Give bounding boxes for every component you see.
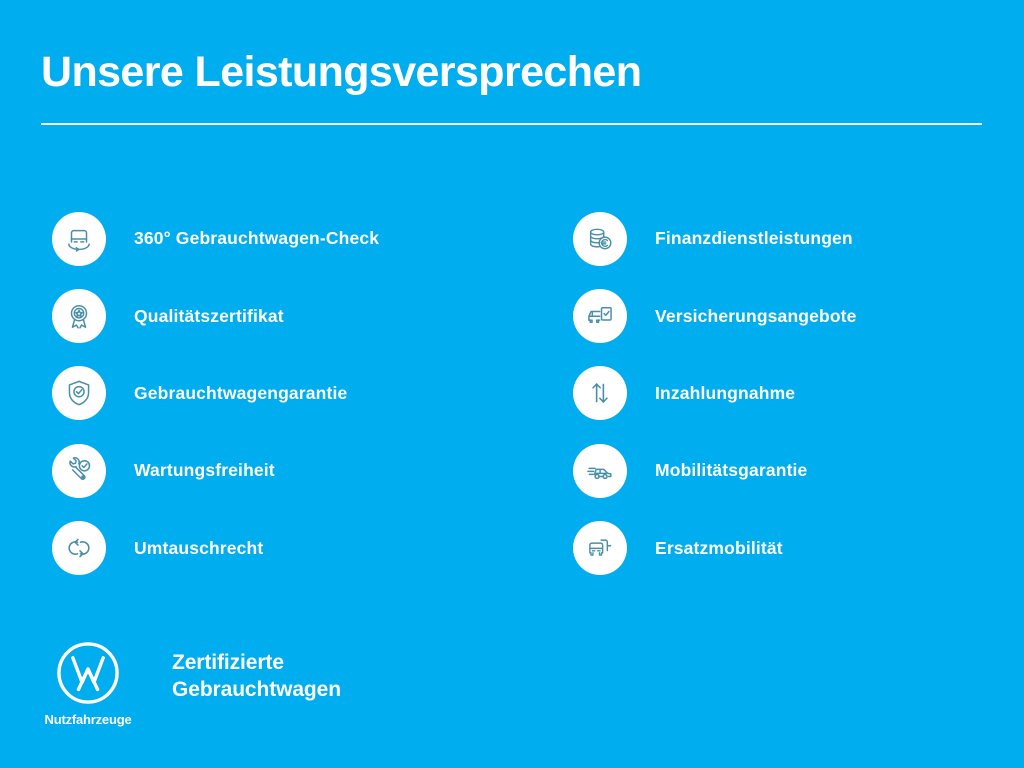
coins-euro-icon [573, 212, 627, 266]
brand-claim: Zertifizierte Gebrauchtwagen [172, 650, 341, 704]
car-motion-icon [573, 444, 627, 498]
brand-claim-line2: Gebrauchtwagen [172, 677, 341, 704]
promise-item-quality-certificate[interactable]: Qualitätszertifikat [52, 277, 522, 354]
promise-item-warranty[interactable]: Gebrauchtwagengarantie [52, 355, 522, 432]
promise-item-insurance-offers[interactable]: Versicherungsangebote [573, 277, 1003, 354]
arrows-up-down-icon [573, 366, 627, 420]
promise-item-financial-services[interactable]: Finanzdienstleistungen [573, 200, 1003, 277]
promise-item-replacement-mobility[interactable]: Ersatzmobilität [573, 510, 1003, 587]
promise-label: Qualitätszertifikat [134, 306, 284, 327]
promise-label: Versicherungsangebote [655, 306, 857, 327]
volkswagen-logo [55, 640, 121, 706]
wrench-check-icon [52, 444, 106, 498]
car-360-check-icon [52, 212, 106, 266]
promise-item-mobility-guarantee[interactable]: Mobilitätsgarantie [573, 432, 1003, 509]
promise-item-360-check[interactable]: 360° Gebrauchtwagen-Check [52, 200, 522, 277]
promise-label: Mobilitätsgarantie [655, 460, 807, 481]
footer-branding: Nutzfahrzeuge Zertifizierte Gebrauchtwag… [38, 640, 341, 727]
brand-claim-line1: Zertifizierte [172, 650, 341, 677]
two-cars-icon [573, 521, 627, 575]
promise-item-trade-in[interactable]: Inzahlungnahme [573, 355, 1003, 432]
promise-label: Umtauschrecht [134, 538, 263, 559]
title-divider [41, 123, 982, 125]
slide-root: Unsere Leistungsversprechen 360° Gebrauc [0, 0, 1024, 768]
promise-item-maintenance-free[interactable]: Wartungsfreiheit [52, 432, 522, 509]
exchange-arrows-icon [52, 521, 106, 575]
promise-label: Ersatzmobilität [655, 538, 783, 559]
promise-label: Inzahlungnahme [655, 383, 795, 404]
brandmark: Nutzfahrzeuge [38, 640, 138, 727]
promise-column-left: 360° Gebrauchtwagen-Check Qualitätszerti… [52, 200, 522, 587]
promise-label: Wartungsfreiheit [134, 460, 275, 481]
car-document-check-icon [573, 289, 627, 343]
brandmark-subtitle: Nutzfahrzeuge [45, 712, 132, 727]
promise-item-exchange-right[interactable]: Umtauschrecht [52, 510, 522, 587]
header: Unsere Leistungsversprechen [41, 50, 983, 125]
page-title: Unsere Leistungsversprechen [41, 50, 983, 95]
promise-label: Gebrauchtwagengarantie [134, 383, 347, 404]
promise-label: Finanzdienstleistungen [655, 228, 853, 249]
promise-column-right: Finanzdienstleistungen Versicheru [573, 200, 1003, 587]
award-rosette-icon [52, 289, 106, 343]
shield-check-icon [52, 366, 106, 420]
promise-label: 360° Gebrauchtwagen-Check [134, 228, 379, 249]
